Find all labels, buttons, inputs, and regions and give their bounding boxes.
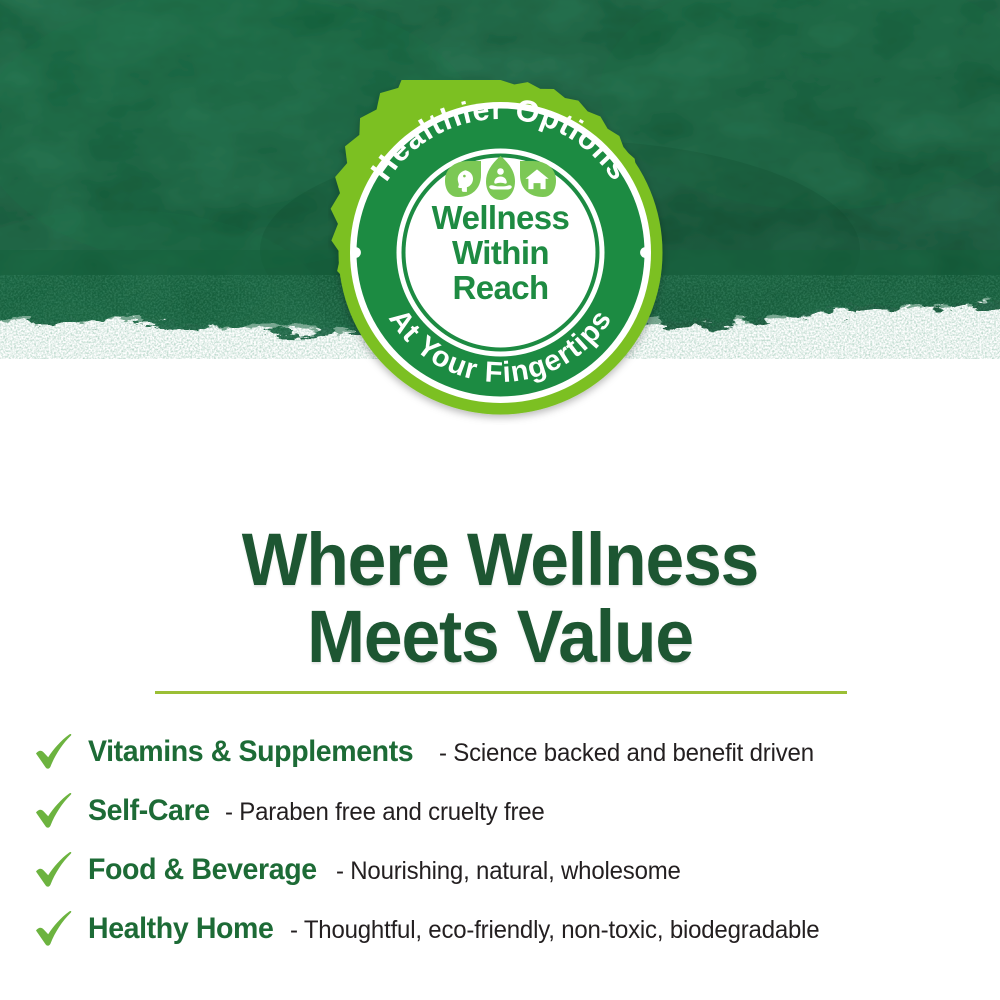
badge-dot-left xyxy=(350,247,361,258)
list-item-text: Self-Care - Paraben free and cruelty fre… xyxy=(88,794,558,828)
badge-center-line-2: Within xyxy=(452,234,549,271)
list-item-description: - Thoughtful, eco-friendly, non-toxic, b… xyxy=(290,916,819,945)
list-item: Healthy Home - Thoughtful, eco-friendly,… xyxy=(0,899,1000,958)
list-item-text: Food & Beverage - Nourishing, natural, w… xyxy=(88,853,695,887)
badge-dot-right xyxy=(640,247,651,258)
badge-icon-group xyxy=(445,156,556,200)
wellness-within-reach-badge: Healthier Options At Your Fingertips xyxy=(328,80,673,425)
check-mark-icon xyxy=(32,908,74,950)
badge-graphic: Healthier Options At Your Fingertips xyxy=(328,80,673,425)
list-item-text: Healthy Home - Thoughtful, eco-friendly,… xyxy=(88,912,842,946)
check-mark-icon xyxy=(32,849,74,891)
list-item-text: Vitamins & Supplements - Science backed … xyxy=(88,735,830,769)
list-item-title: Self-Care xyxy=(88,794,210,828)
list-item-title: Vitamins & Supplements xyxy=(88,735,413,769)
list-item: Food & Beverage - Nourishing, natural, w… xyxy=(0,840,1000,899)
list-item: Self-Care - Paraben free and cruelty fre… xyxy=(0,781,1000,840)
list-item-description: - Nourishing, natural, wholesome xyxy=(336,857,681,886)
badge-center-line-3: Reach xyxy=(452,269,548,306)
list-item-title: Food & Beverage xyxy=(88,853,317,887)
list-item-description: - Science backed and benefit driven xyxy=(439,739,814,768)
list-item-description: - Paraben free and cruelty free xyxy=(225,798,545,827)
list-item-title: Healthy Home xyxy=(88,912,274,946)
page-title: Where Wellness Meets Value xyxy=(0,524,1000,672)
check-mark-icon xyxy=(32,790,74,832)
headline-line-1: Where Wellness xyxy=(30,524,970,595)
headline-divider xyxy=(155,691,847,694)
list-item: Vitamins & Supplements - Science backed … xyxy=(0,722,1000,781)
headline-line-2: Meets Value xyxy=(30,601,970,672)
benefits-list: Vitamins & Supplements - Science backed … xyxy=(0,722,1000,958)
check-mark-icon xyxy=(32,731,74,773)
badge-center-line-1: Wellness xyxy=(432,199,570,236)
